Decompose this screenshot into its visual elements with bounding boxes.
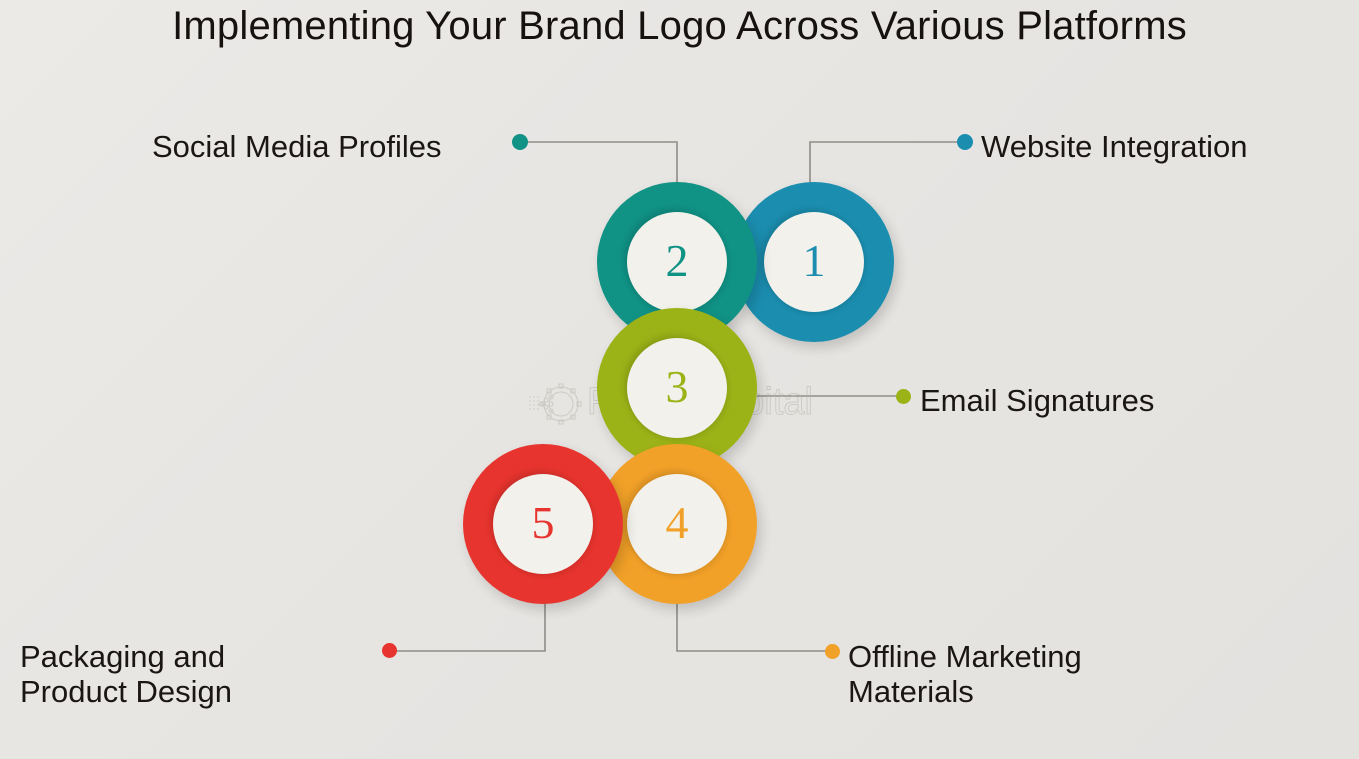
connector-dot-1 (957, 134, 973, 150)
step-hole-2: 2 (627, 212, 727, 312)
step-hole-4: 4 (627, 474, 727, 574)
step-number-3: 3 (666, 364, 689, 410)
connector-dot-3 (896, 389, 911, 404)
step-ring-1[interactable]: 1 (734, 182, 894, 342)
step-number-1: 1 (803, 238, 826, 284)
step-ring-5[interactable]: 5 (463, 444, 623, 604)
connector-dot-2 (512, 134, 528, 150)
step-label-3: Email Signatures (920, 383, 1154, 418)
step-label-2: Social Media Profiles (152, 129, 441, 164)
step-hole-5: 5 (493, 474, 593, 574)
step-label-4: Offline Marketing Materials (848, 639, 1082, 709)
page-title: Implementing Your Brand Logo Across Vari… (0, 4, 1359, 49)
step-number-4: 4 (666, 500, 689, 546)
step-hole-1: 1 (764, 212, 864, 312)
step-number-5: 5 (532, 500, 555, 546)
slide-canvas: Implementing Your Brand Logo Across Vari… (0, 0, 1359, 759)
step-label-5: Packaging and Product Design (20, 639, 232, 709)
connector-dot-4 (825, 644, 840, 659)
step-hole-3: 3 (627, 338, 727, 438)
step-number-2: 2 (666, 238, 689, 284)
step-label-1: Website Integration (981, 129, 1248, 164)
connector-dot-5 (382, 643, 397, 658)
gear-icon (527, 379, 585, 429)
